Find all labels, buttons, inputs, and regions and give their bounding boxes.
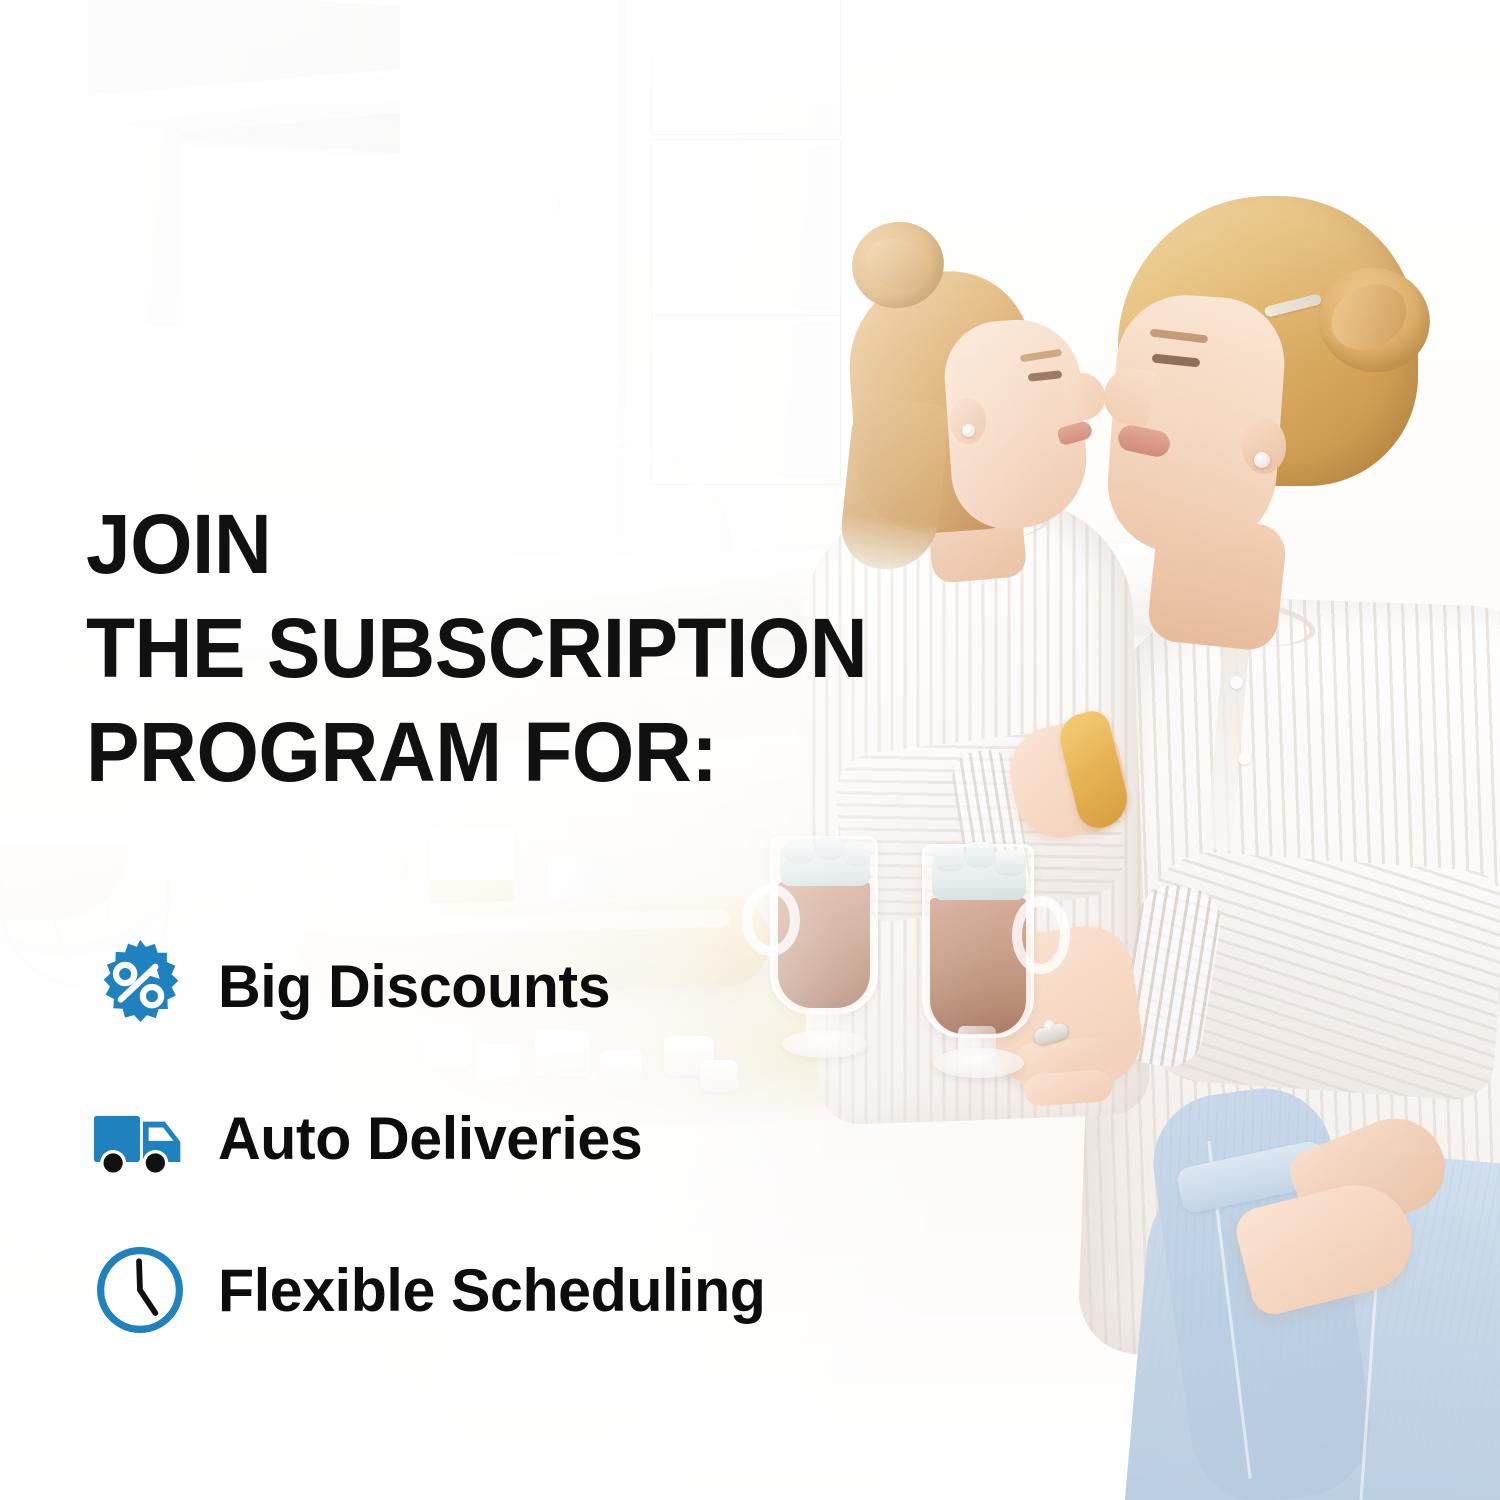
- promo-banner: JOIN THE SUBSCRIPTION PROGRAM FOR: Big D…: [0, 0, 1500, 1500]
- feature-label: Auto Deliveries: [218, 1104, 642, 1173]
- clock-icon: [92, 1242, 188, 1338]
- page-title: JOIN THE SUBSCRIPTION PROGRAM FOR:: [86, 492, 867, 804]
- delivery-truck-icon: [92, 1090, 188, 1186]
- feature-item-big-discounts[interactable]: Big Discounts: [92, 938, 774, 1034]
- feature-label: Big Discounts: [218, 952, 610, 1021]
- feature-label: Flexible Scheduling: [218, 1256, 766, 1325]
- feature-item-auto-deliveries[interactable]: Auto Deliveries: [92, 1090, 774, 1186]
- promo-content: JOIN THE SUBSCRIPTION PROGRAM FOR: Big D…: [0, 0, 1500, 1500]
- feature-item-flexible-scheduling[interactable]: Flexible Scheduling: [92, 1242, 774, 1338]
- feature-list: Big Discounts Auto Deliveries: [92, 938, 774, 1338]
- discount-badge-percent-icon: [92, 938, 188, 1034]
